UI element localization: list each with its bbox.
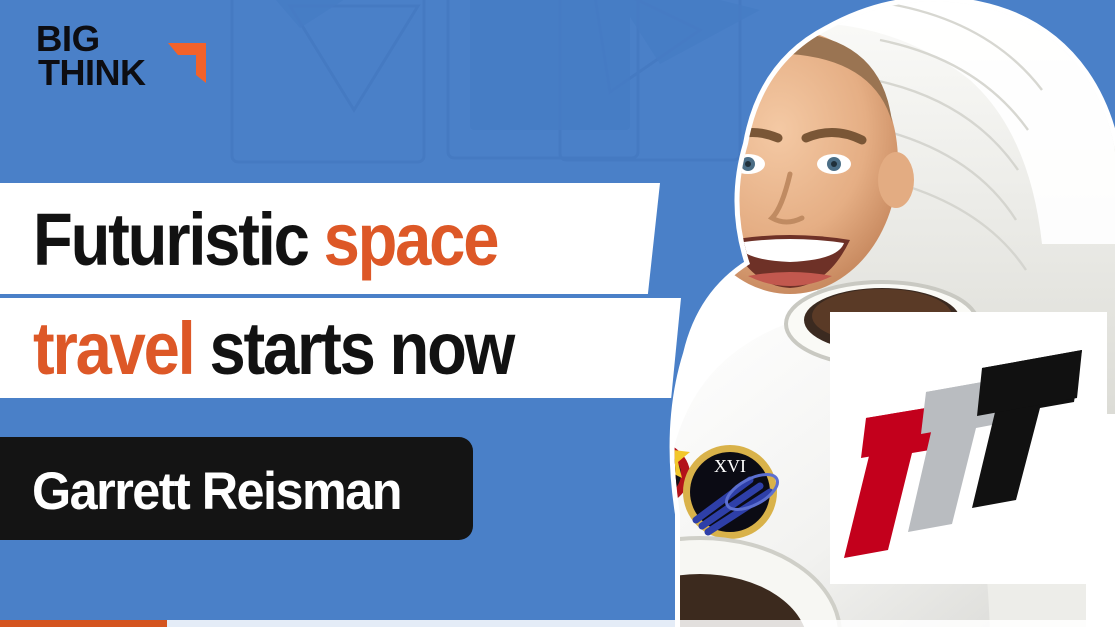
title-line-2-plain: starts now xyxy=(194,307,514,390)
brand-name-line-1: BIG xyxy=(36,22,250,56)
brand-name-line-2: THINK xyxy=(38,56,248,90)
video-progress-fill[interactable] xyxy=(0,620,167,627)
speaker-name: Garrett Reisman xyxy=(32,461,401,522)
speaker-name-plate: Garrett Reisman xyxy=(0,437,473,540)
title-line-1-plain: Futuristic xyxy=(33,198,324,281)
arrow-icon xyxy=(160,35,216,93)
title-line-2: travel starts now xyxy=(33,312,513,386)
svg-text:XVI: XVI xyxy=(714,456,746,476)
title-line-1-highlight: space xyxy=(324,198,498,281)
video-progress-track[interactable] xyxy=(0,620,1115,627)
video-thumbnail: BIG THINK xyxy=(0,0,1115,627)
title-line-2-highlight: travel xyxy=(33,307,194,390)
partner-logo-card xyxy=(830,312,1107,584)
ttt-logo-icon xyxy=(830,312,1107,584)
big-think-logo: BIG THINK xyxy=(38,22,248,102)
title-line-1: Futuristic space xyxy=(33,203,497,277)
